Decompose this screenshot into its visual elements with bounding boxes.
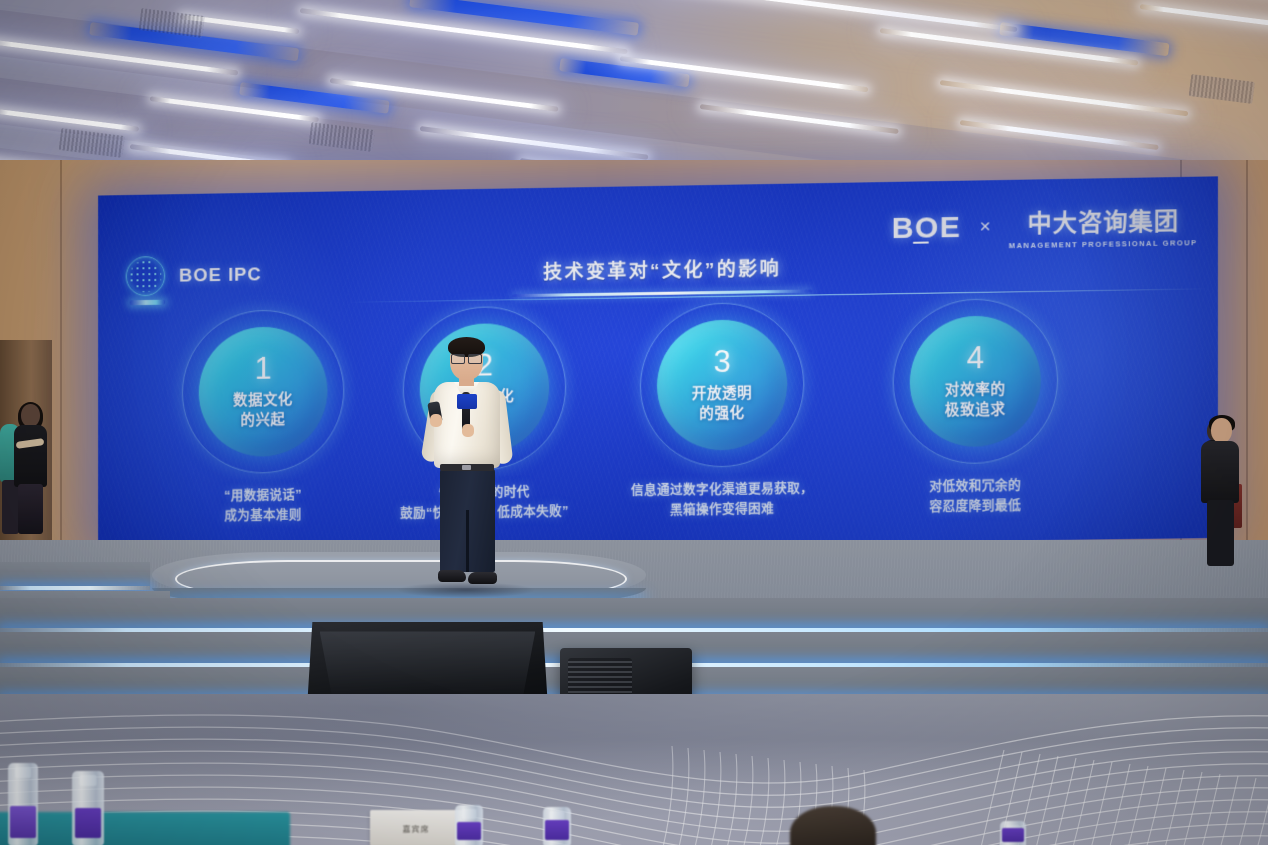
water-bottle <box>543 798 571 845</box>
water-bottle <box>72 762 104 845</box>
name-card-text: 嘉宾席 <box>370 824 462 835</box>
foreground-table <box>0 812 290 845</box>
led-presentation-screen: BOE IPC BOE × 中大咨询集团 MANAGEMENT PROFESSI… <box>98 176 1218 552</box>
ceiling-light-strip <box>940 80 1189 116</box>
speaker-shoe <box>468 572 497 584</box>
speaker-presenter <box>424 340 510 592</box>
glasses-icon <box>451 354 482 362</box>
audience-person <box>1199 418 1239 566</box>
ceiling-vent <box>1189 74 1255 104</box>
microphone-flag <box>457 394 477 409</box>
audience-person <box>10 404 50 534</box>
water-bottle <box>455 796 483 845</box>
ceiling-light-strip <box>660 0 1018 32</box>
conference-stage-scene: BOE IPC BOE × 中大咨询集团 MANAGEMENT PROFESSI… <box>0 0 1268 845</box>
speaker-right-hand <box>462 424 474 437</box>
ceiling-light-strip <box>1140 4 1268 34</box>
stage-step <box>0 598 1268 632</box>
speaker-shoe <box>438 570 466 582</box>
water-bottle <box>1000 812 1026 845</box>
water-bottle <box>8 754 38 845</box>
speaker-left-hand <box>430 414 442 427</box>
table-name-card: 嘉宾席 <box>370 810 462 845</box>
side-step <box>0 562 150 590</box>
